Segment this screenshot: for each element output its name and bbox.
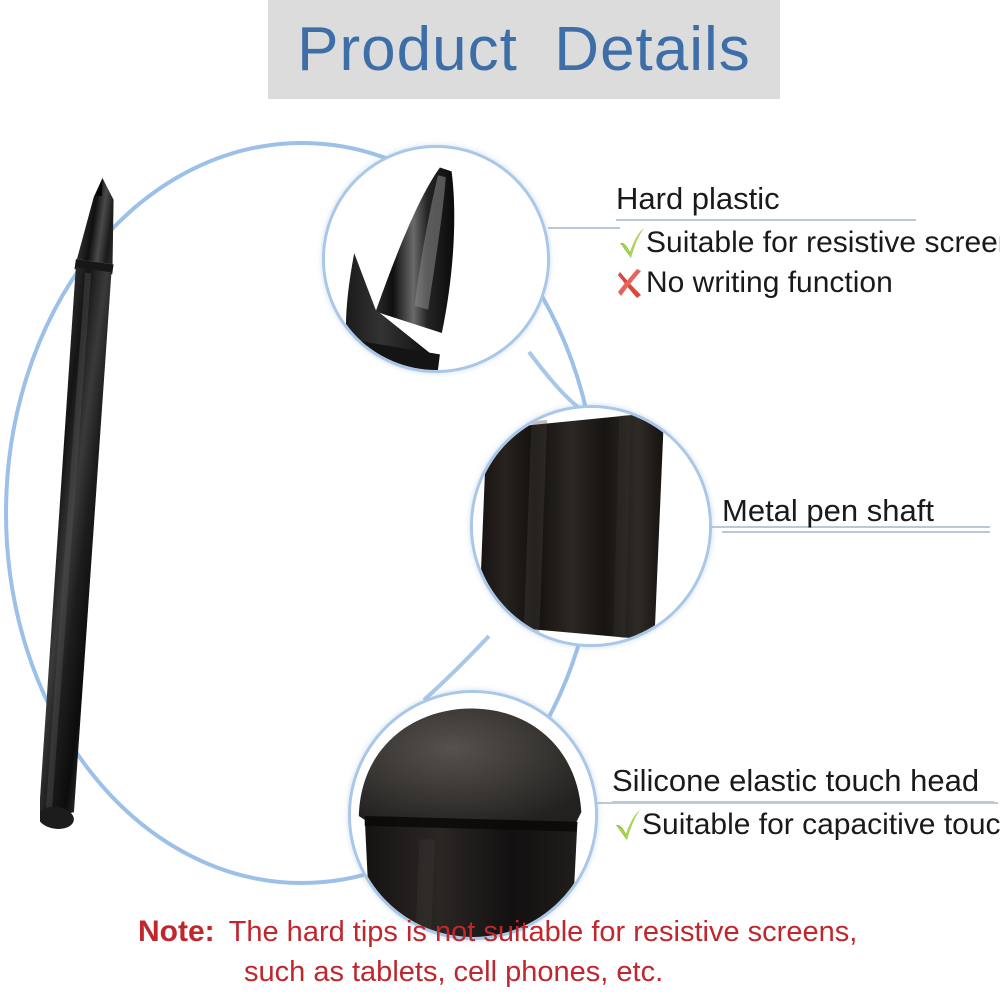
check-icon <box>612 808 642 842</box>
cross-icon <box>616 266 646 300</box>
annotation-silicone-head: Silicone elastic touch head Suitable for… <box>612 762 1000 843</box>
touch-head-zoom-image <box>351 693 595 937</box>
annotation-metal-shaft: Metal pen shaft <box>722 492 990 533</box>
footer-note: Note: The hard tips is not suitable for … <box>138 912 928 992</box>
annotation-heading: Hard plastic <box>616 180 1000 218</box>
note-text-line2: such as tablets, cell phones, etc. <box>244 952 928 992</box>
annotation-underline <box>722 531 990 533</box>
pen-tip-zoom-image <box>325 148 547 370</box>
callout-touch-head <box>348 690 598 940</box>
annotation-heading: Metal pen shaft <box>722 492 990 530</box>
note-first-line: Note: The hard tips is not suitable for … <box>138 912 928 952</box>
check-icon <box>616 226 646 260</box>
stylus-pen-illustration <box>40 170 370 890</box>
callout-metal-shaft <box>470 405 712 647</box>
annotation-hard-plastic: Hard plastic Suitable for resistive scre… <box>616 180 1000 301</box>
product-details-infographic: Product Details <box>0 0 1000 1000</box>
metal-shaft-zoom-image <box>473 408 709 644</box>
annotation-row: Suitable for resistive screen <box>616 225 1000 261</box>
annotation-underline <box>616 219 916 221</box>
annotation-row: Suitable for capacitive touch <box>612 807 1000 843</box>
note-text-line1: The hard tips is not suitable for resist… <box>229 912 858 952</box>
note-label: Note: <box>138 915 215 949</box>
annotation-heading: Silicone elastic touch head <box>612 762 1000 800</box>
page-title: Product Details <box>268 8 780 92</box>
annotation-row-text: Suitable for capacitive touch <box>642 807 1000 843</box>
annotation-row: No writing function <box>616 265 1000 301</box>
annotation-row-text: No writing function <box>646 265 893 301</box>
annotation-underline <box>612 801 994 803</box>
annotation-row-text: Suitable for resistive screen <box>646 225 1000 261</box>
callout-pen-tip <box>322 145 550 373</box>
